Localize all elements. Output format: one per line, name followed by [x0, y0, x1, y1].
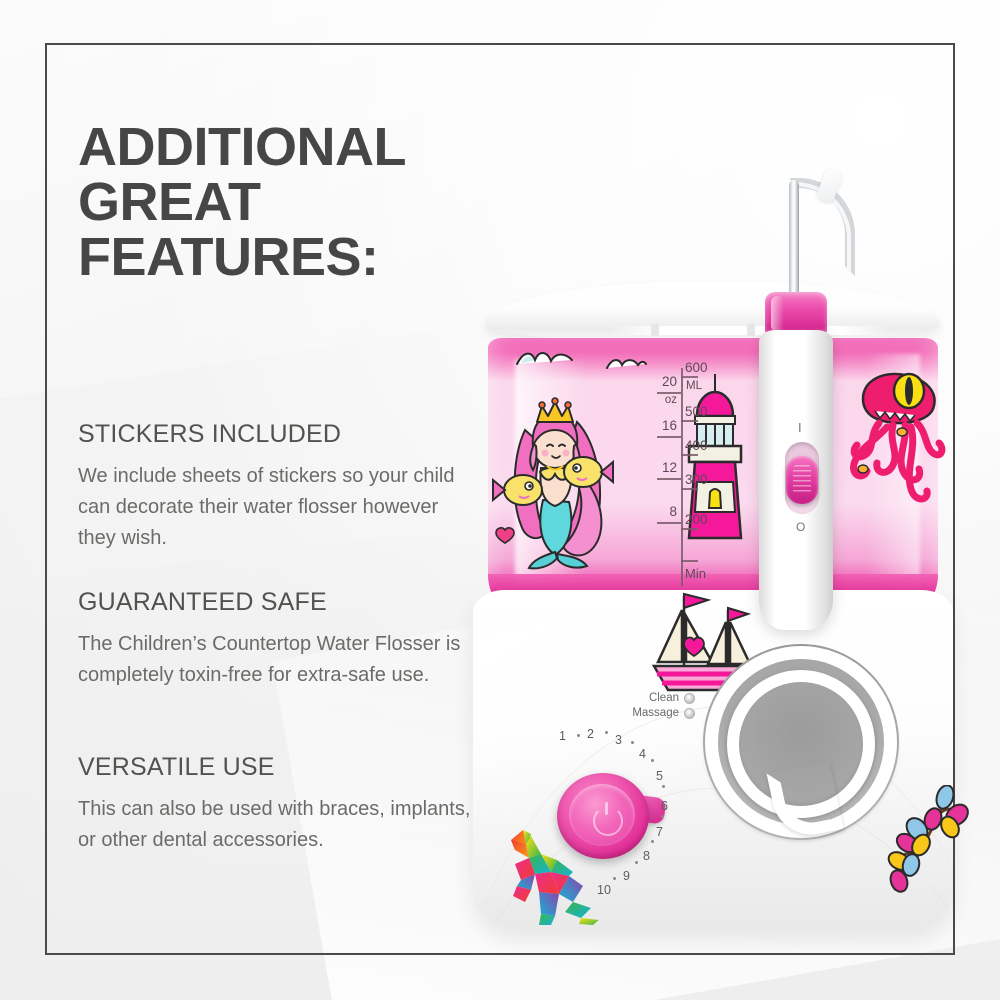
headline-block: ADDITIONAL GREAT FEATURES:: [78, 120, 498, 285]
dial-number: 2: [587, 727, 594, 741]
scale-ml-value: 200: [685, 512, 708, 527]
feature-body: We include sheets of stickers so your ch…: [78, 461, 478, 554]
dial-number: 7: [656, 825, 663, 839]
scale-tick: [681, 420, 698, 422]
mode-label: Clean: [649, 692, 679, 704]
kangaroo-logo-icon: [495, 820, 605, 925]
scale-oz-unit: oz: [651, 394, 677, 406]
scale-axis-line: [681, 368, 683, 586]
feature-title: STICKERS INCLUDED: [78, 420, 478, 449]
power-switch-thumb[interactable]: [786, 456, 818, 504]
scale-tick: [681, 454, 698, 456]
mermaid-sticker-icon: [485, 360, 615, 570]
mode-indicator-group: Clean Massage: [565, 692, 695, 722]
scale-tick: [681, 488, 698, 490]
feature-body: This can also be used with braces, impla…: [78, 794, 478, 856]
flosser-handle[interactable]: I O: [745, 180, 837, 630]
lid-notch-left: [651, 324, 659, 336]
dial-tick-dot: [613, 877, 616, 880]
feature-title: GUARANTEED SAFE: [78, 588, 478, 617]
headline-line-3: FEATURES:: [78, 230, 498, 285]
dial-number: 6: [661, 799, 668, 813]
feature-body: The Children’s Countertop Water Flosser …: [78, 629, 478, 691]
dial-number: 9: [623, 869, 630, 883]
mode-clean: Clean: [565, 692, 695, 704]
feature-stickers-included: STICKERS INCLUDED We include sheets of s…: [78, 420, 478, 554]
dial-tick-dot: [661, 815, 664, 818]
page-title: ADDITIONAL GREAT FEATURES:: [78, 120, 498, 285]
dial-tick-dot: [605, 731, 608, 734]
indicator-dot-icon: [684, 693, 695, 704]
scale-oz-value: 16: [651, 418, 677, 433]
scale-ml-value: 500: [685, 404, 708, 419]
scale-tick: [681, 528, 698, 530]
dial-tick-dot: [651, 759, 654, 762]
indicator-dot-icon: [684, 708, 695, 719]
dial-number: 5: [656, 769, 663, 783]
scale-tick: [681, 376, 698, 378]
sea-monster-sticker-icon: [845, 365, 955, 525]
scale-oz-value: 8: [651, 504, 677, 519]
infographic-page: ADDITIONAL GREAT FEATURES: STICKERS INCL…: [0, 0, 1000, 1000]
dial-tick-dot: [635, 861, 638, 864]
feature-guaranteed-safe: GUARANTEED SAFE The Children’s Counterto…: [78, 588, 478, 691]
scale-tick: [657, 436, 681, 438]
scale-oz-value: 20: [651, 374, 677, 389]
switch-off-label: O: [796, 520, 805, 534]
headline-line-2: GREAT: [78, 175, 498, 230]
dial-number: 3: [615, 733, 622, 747]
feature-versatile-use: VERSATILE USE This can also be used with…: [78, 753, 478, 856]
dial-number: 4: [639, 747, 646, 761]
scale-ml-value: 400: [685, 438, 708, 453]
dial-number: 1: [559, 729, 566, 743]
scale-min-label: Min: [685, 566, 706, 581]
reservoir-measurement-scale: 600 ML 20 oz 500 16 400 12 300 8 200 Min: [643, 360, 735, 590]
product-image-water-flosser: Clean Massage 1 2 3 4 5 6: [455, 170, 995, 960]
mode-massage: Massage: [565, 707, 695, 719]
scale-tick: [657, 478, 681, 480]
floral-branch-sticker-icon: [887, 785, 973, 893]
scale-ml-value: 300: [685, 472, 708, 487]
headline-line-1: ADDITIONAL: [78, 120, 498, 175]
scale-tick: [657, 522, 681, 524]
scale-ml-unit: ML: [686, 380, 702, 392]
dial-tick-dot: [631, 741, 634, 744]
dial-tick-dot: [651, 840, 654, 843]
feature-title: VERSATILE USE: [78, 753, 478, 782]
mode-label: Massage: [632, 707, 679, 719]
scale-ml-value: 600: [685, 360, 708, 375]
collar-highlight: [771, 296, 784, 332]
dial-tick-dot: [577, 734, 580, 737]
scale-oz-value: 12: [651, 460, 677, 475]
dial-tick-dot: [662, 785, 665, 788]
switch-on-label: I: [798, 420, 802, 435]
scale-tick: [681, 560, 698, 562]
nozzle-shaft: [789, 180, 799, 300]
dial-number: 8: [643, 849, 650, 863]
